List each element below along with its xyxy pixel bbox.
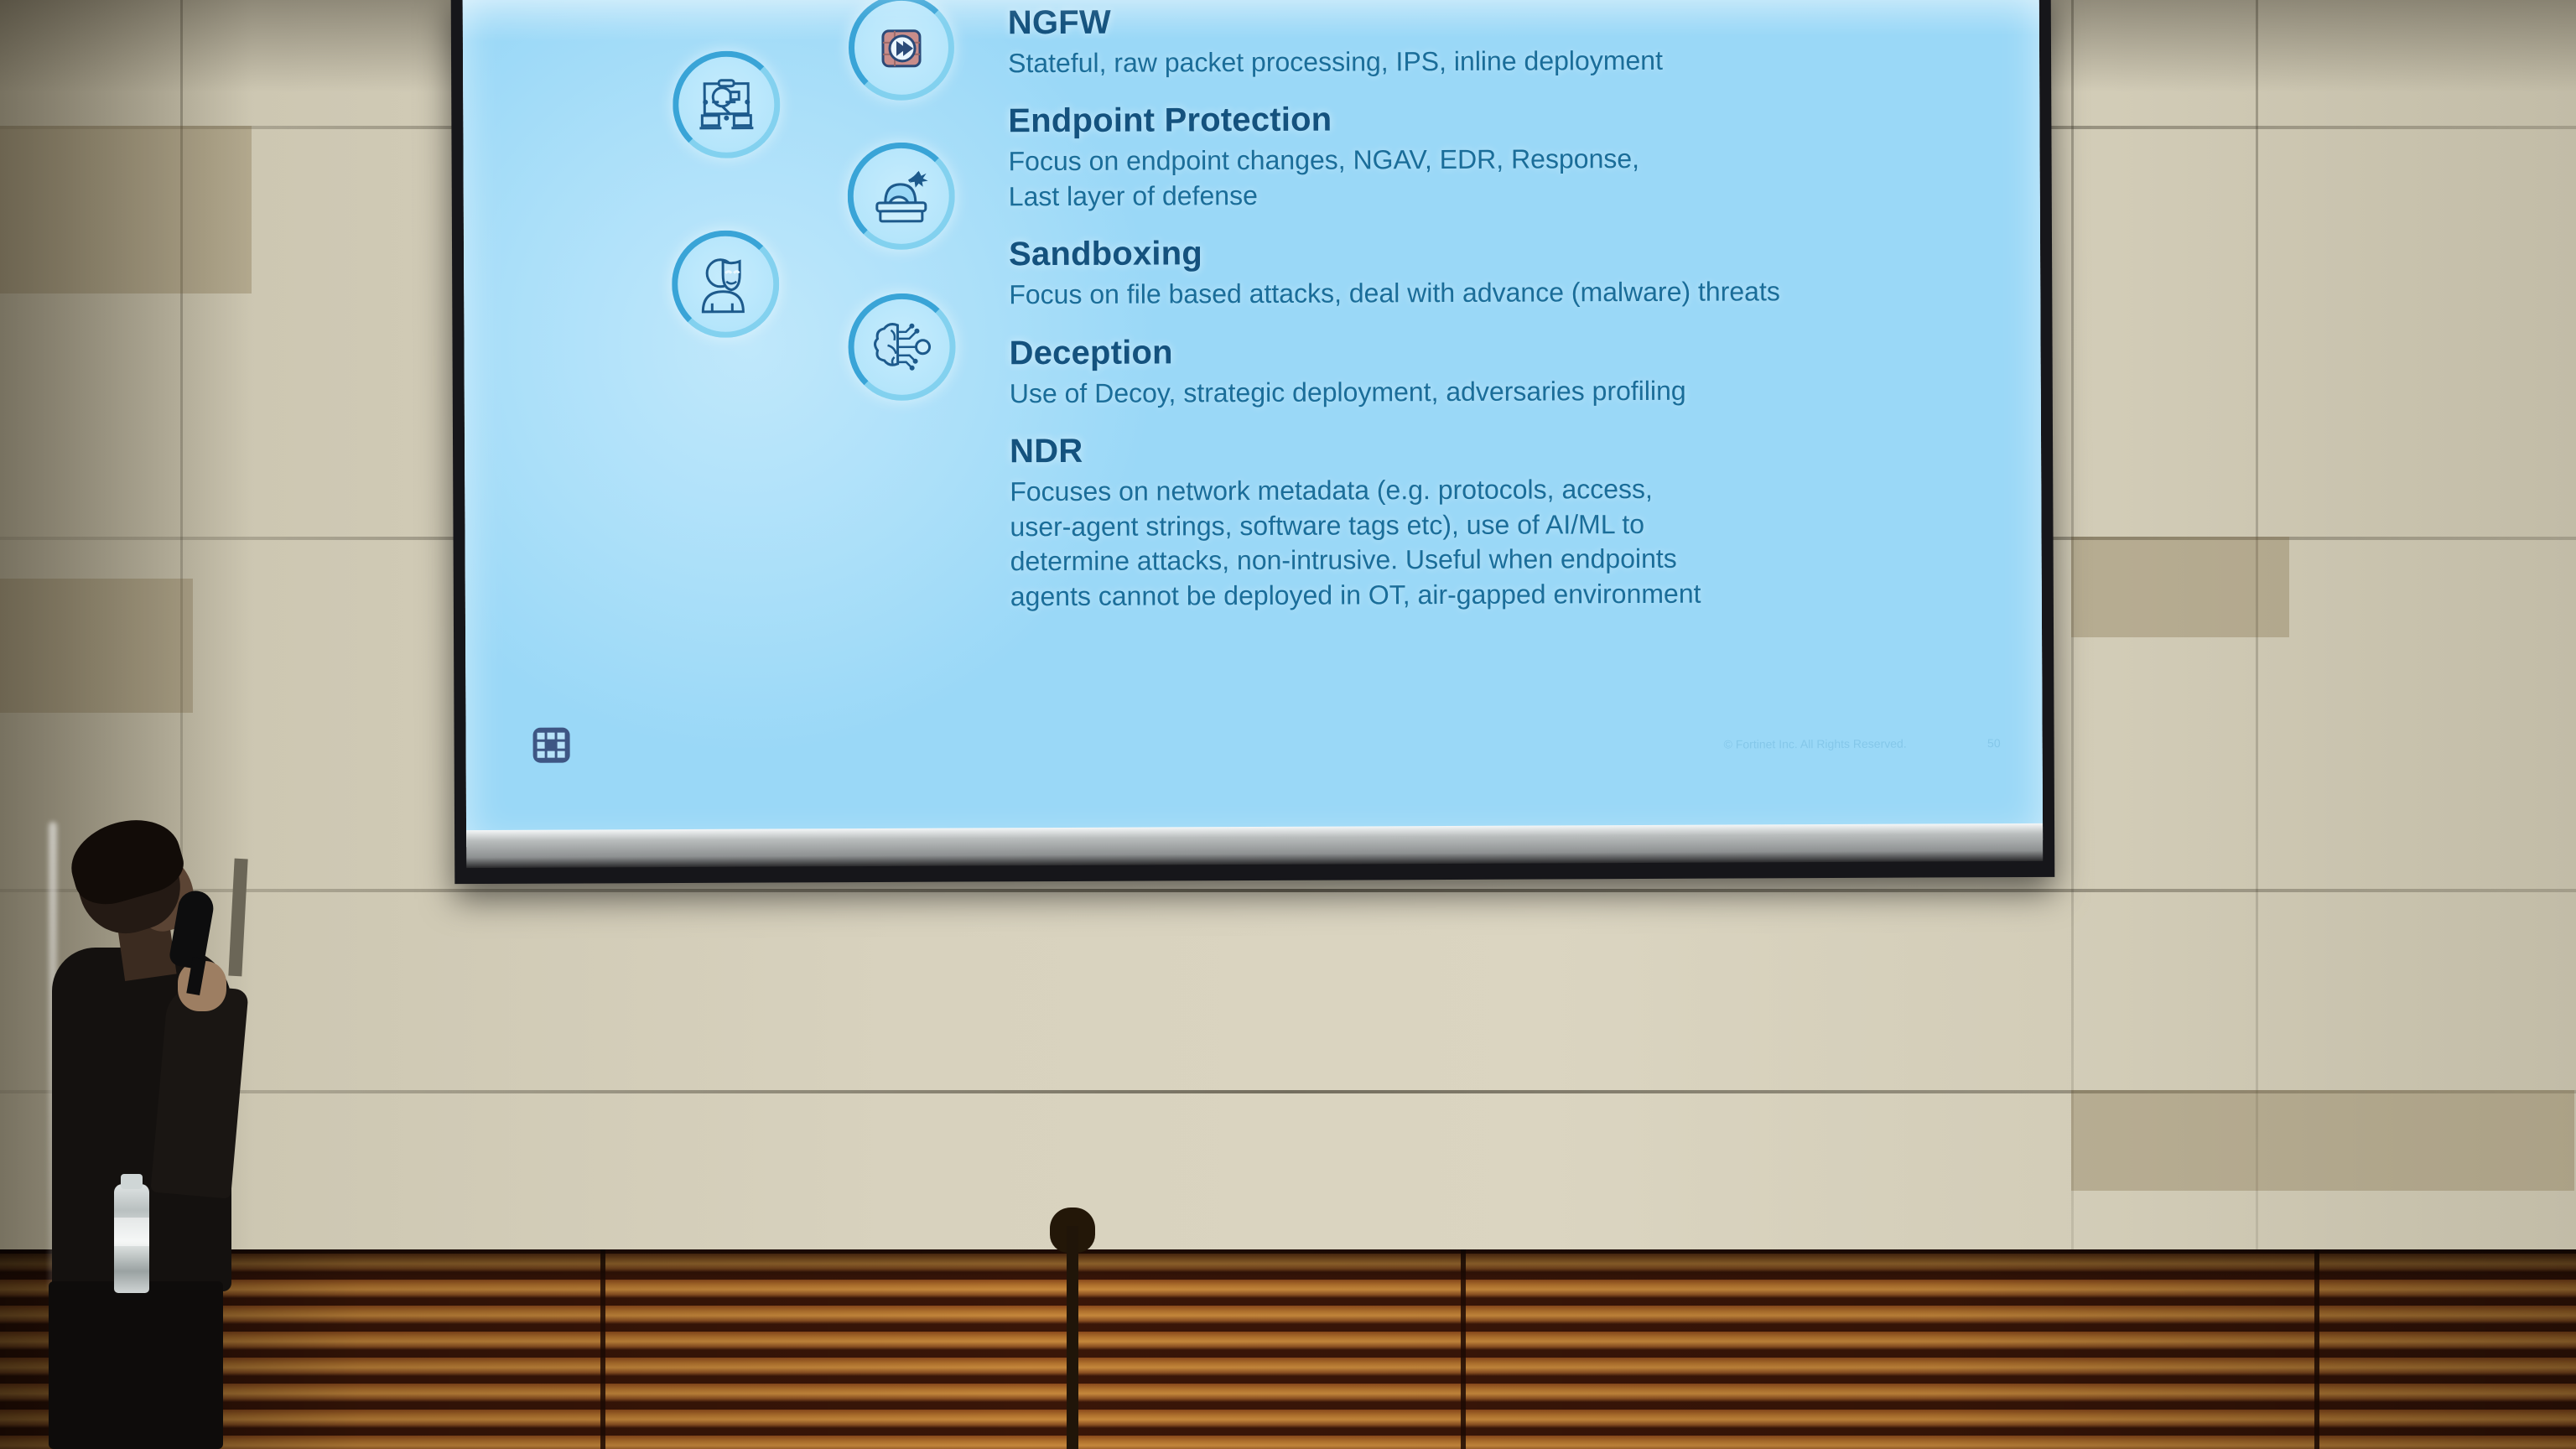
section-sandboxing: Sandboxing Focus on file based attacks, … — [1009, 231, 1998, 313]
water-bottle-label — [114, 1218, 149, 1246]
wood-slat-shading — [0, 1249, 2576, 1449]
bomb-in-sandbox-icon — [847, 143, 955, 251]
fortinet-logo-mark — [533, 728, 570, 763]
section-heading: Sandboxing — [1009, 231, 1998, 273]
section-heading: Deception — [1009, 330, 1998, 372]
section-heading: NDR — [1010, 428, 1999, 470]
section-body: Use of Decoy, strategic deployment, adve… — [1010, 372, 1999, 412]
screen-bottom-strip — [466, 823, 2043, 868]
firewall-glyph — [875, 21, 928, 75]
firewall-brick-wall-icon — [849, 0, 955, 101]
person-with-mask-icon — [672, 230, 780, 338]
wall-accent-panel — [2071, 537, 2289, 637]
section-body: Focus on file based attacks, deal with a… — [1009, 273, 1998, 313]
ai-brain-glyph — [872, 320, 931, 374]
screenshot-root: NGFW Stateful, raw packet processing, IP… — [0, 0, 2576, 1449]
slide-footer: © Fortinet Inc. All Rights Reserved. 50 — [1724, 736, 2001, 750]
presentation-slide: NGFW Stateful, raw packet processing, IP… — [463, 0, 2043, 832]
projection-surface: NGFW Stateful, raw packet processing, IP… — [463, 0, 2043, 847]
ai-brain-circuit-icon — [848, 293, 956, 402]
deception-glyph — [698, 255, 753, 314]
sandbox-glyph — [872, 169, 931, 223]
slide-text-column: NGFW Stateful, raw packet processing, IP… — [1008, 0, 2000, 636]
section-heading: NGFW — [1008, 0, 1997, 42]
network-endpoints-icon — [673, 50, 781, 158]
section-ngfw: NGFW Stateful, raw packet processing, IP… — [1008, 0, 1997, 81]
section-heading: Endpoint Protection — [1008, 99, 1997, 141]
section-body: Stateful, raw packet processing, IPS, in… — [1008, 42, 1997, 81]
wall-seam — [0, 889, 2576, 892]
projection-screen: NGFW Stateful, raw packet processing, IP… — [451, 0, 2055, 884]
section-deception: Deception Use of Decoy, strategic deploy… — [1009, 330, 1998, 412]
microphone-stand — [1067, 1226, 1078, 1449]
water-bottle-cap — [121, 1174, 143, 1189]
section-endpoint-protection: Endpoint Protection Focus on endpoint ch… — [1008, 99, 1998, 215]
wall-accent-panel — [2071, 1090, 2574, 1191]
network-glyph — [697, 77, 756, 132]
section-body: Focuses on network metadata (e.g. protoc… — [1010, 470, 2000, 615]
page-number: 50 — [1987, 736, 2001, 750]
copyright-text: © Fortinet Inc. All Rights Reserved. — [1724, 737, 1907, 751]
section-body: Focus on endpoint changes, NGAV, EDR, Re… — [1008, 140, 1997, 214]
section-ndr: NDR Focuses on network metadata (e.g. pr… — [1010, 428, 2000, 614]
podium — [49, 1281, 223, 1449]
presenter-arm — [150, 983, 248, 1198]
